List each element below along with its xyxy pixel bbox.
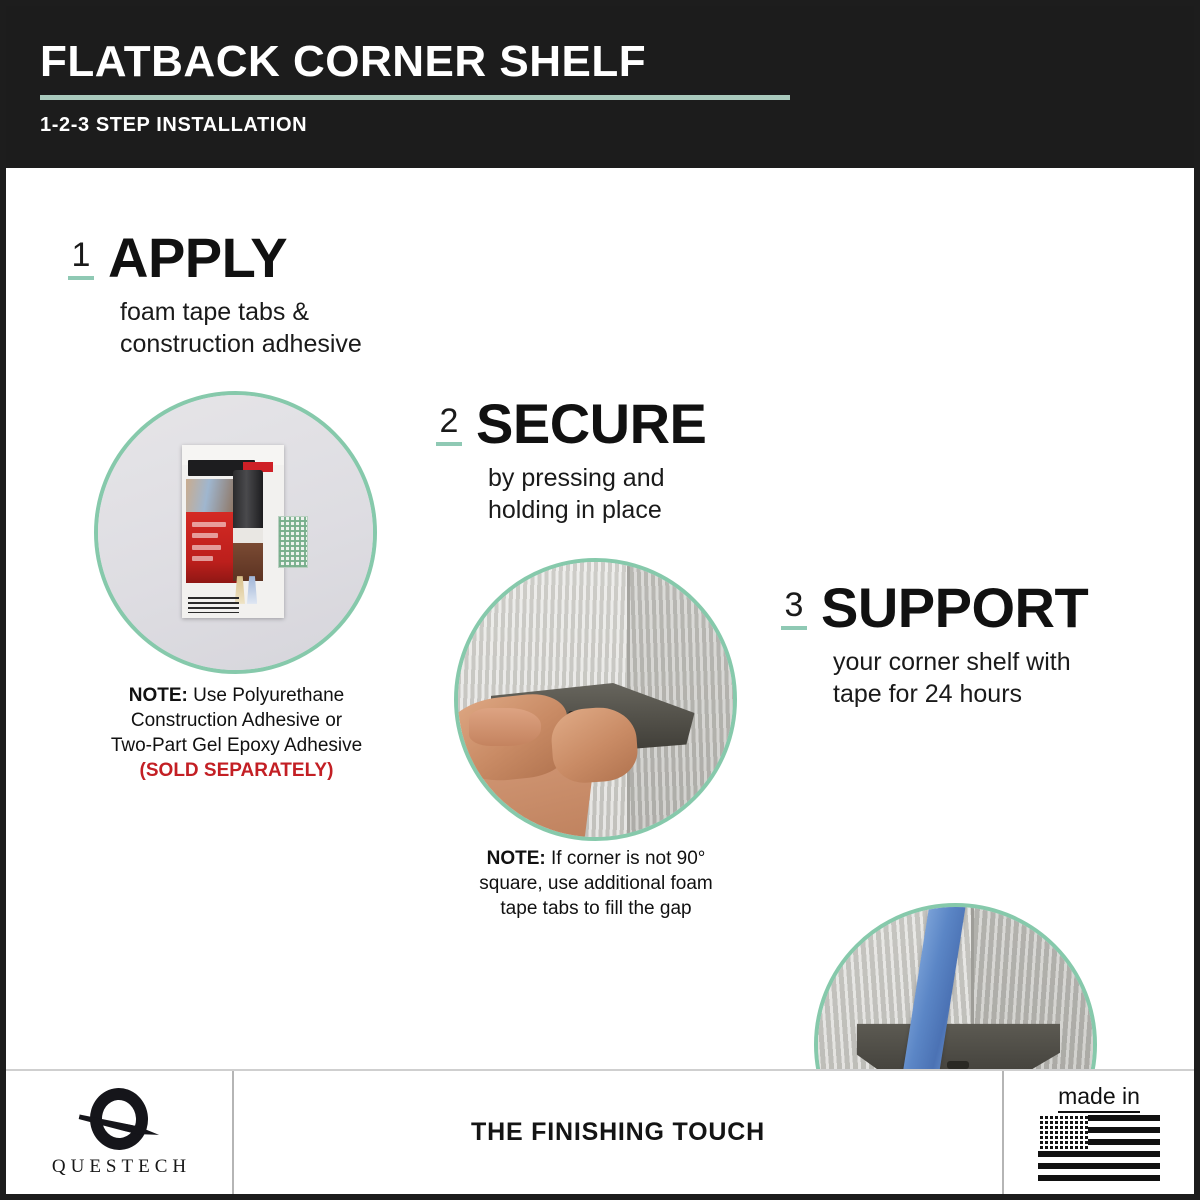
step-2-word: SECURE <box>476 396 706 452</box>
cartridge-label-band <box>233 528 264 544</box>
tagline-cell: THE FINISHING TOUCH <box>234 1071 1004 1194</box>
step-3-heading: 3 SUPPORT <box>781 580 1088 636</box>
package-red-panel <box>186 512 239 583</box>
step-2-number-group: 2 <box>436 396 462 446</box>
step-1-photo-adhesive <box>94 391 377 674</box>
steps-area: 1 APPLY foam tape tabs & construction ad… <box>6 168 1194 1069</box>
step-1-number: 1 <box>72 238 91 272</box>
right-hand <box>549 705 639 785</box>
step-2-photo-pressing <box>454 558 737 841</box>
step-3-number-underline <box>781 626 807 630</box>
step-3-description-line-2: tape for 24 hours <box>833 678 1088 710</box>
step-1-description: foam tape tabs & construction adhesive <box>120 296 362 360</box>
step-1-number-underline <box>68 276 94 280</box>
foam-tape-tab <box>278 516 308 568</box>
us-flag-icon <box>1038 1115 1160 1181</box>
page-title: FLATBACK CORNER SHELF <box>40 40 1194 84</box>
step-1-note-sold-separately: (SOLD SEPARATELY) <box>64 758 409 783</box>
step-1-note-line-1: NOTE: Use Polyurethane <box>64 683 409 708</box>
header-subtitle: 1-2-3 STEP INSTALLATION <box>40 114 1194 137</box>
step-3-number-group: 3 <box>781 580 807 630</box>
package-footer-text <box>188 597 239 613</box>
step-2-note-text: If corner is not 90° <box>546 848 706 869</box>
step-2-heading: 2 SECURE <box>436 396 706 452</box>
made-in-usa-cell: made in <box>1004 1071 1194 1194</box>
step-1-note-label: NOTE: <box>129 685 188 706</box>
step-1-description-line-1: foam tape tabs & <box>120 296 362 328</box>
step-2-number: 2 <box>440 404 459 438</box>
footer-tagline: THE FINISHING TOUCH <box>471 1118 765 1147</box>
instruction-sheet: FLATBACK CORNER SHELF 1-2-3 STEP INSTALL… <box>0 0 1200 1200</box>
step-3-support: 3 SUPPORT your corner shelf with tape fo… <box>781 580 1088 710</box>
step-3-description-line-1: your corner shelf with <box>833 646 1088 678</box>
step-2-note-line-3: tape tabs to fill the gap <box>446 896 746 921</box>
step-3-number: 3 <box>785 588 804 622</box>
step-2-note-label: NOTE: <box>487 848 546 869</box>
package-text-line <box>192 533 217 538</box>
package-text-line <box>192 556 213 561</box>
step-1-heading: 1 APPLY <box>68 230 362 286</box>
brand-logo-cell: QUESTECH <box>6 1071 234 1194</box>
step-1-word: APPLY <box>108 230 287 286</box>
fingers <box>469 708 541 747</box>
step-1-number-group: 1 <box>68 230 94 280</box>
step-1-note-line-2: Construction Adhesive or <box>64 708 409 733</box>
step-1-note: NOTE: Use Polyurethane Construction Adhe… <box>64 683 409 783</box>
package-photo-panel <box>186 479 239 514</box>
step-3-description: your corner shelf with tape for 24 hours <box>833 646 1088 710</box>
brand-name: QUESTECH <box>47 1156 191 1178</box>
made-in-label: made in <box>1058 1084 1140 1112</box>
step-1-note-text: Use Polyurethane <box>188 685 344 706</box>
header-banner: FLATBACK CORNER SHELF 1-2-3 STEP INSTALL… <box>6 6 1194 168</box>
footer-bar: QUESTECH THE FINISHING TOUCH made in <box>6 1069 1194 1194</box>
step-1-apply: 1 APPLY foam tape tabs & construction ad… <box>68 230 362 360</box>
package-text-line <box>192 545 221 550</box>
step-2-description-line-1: by pressing and <box>488 462 706 494</box>
step-3-word: SUPPORT <box>821 580 1088 636</box>
header-accent-rule <box>40 95 790 100</box>
step-2-note-line-2: square, use additional foam <box>446 871 746 896</box>
corner-shelf-slot <box>947 1061 969 1069</box>
step-2-description-line-2: holding in place <box>488 494 706 526</box>
adhesive-package <box>182 445 284 618</box>
step-2-secure: 2 SECURE by pressing and holding in plac… <box>436 396 706 526</box>
step-1-description-line-2: construction adhesive <box>120 328 362 360</box>
step-2-note-line-1: NOTE: If corner is not 90° <box>446 846 746 871</box>
step-2-description: by pressing and holding in place <box>488 462 706 526</box>
flag-canton-stars <box>1038 1115 1088 1151</box>
step-2-note: NOTE: If corner is not 90° square, use a… <box>446 846 746 921</box>
step-1-note-line-3: Two-Part Gel Epoxy Adhesive <box>64 733 409 758</box>
step-2-number-underline <box>436 442 462 446</box>
questech-q-logo-icon <box>76 1088 162 1152</box>
cartridge-lower-body <box>233 543 264 581</box>
package-text-line <box>192 522 226 527</box>
